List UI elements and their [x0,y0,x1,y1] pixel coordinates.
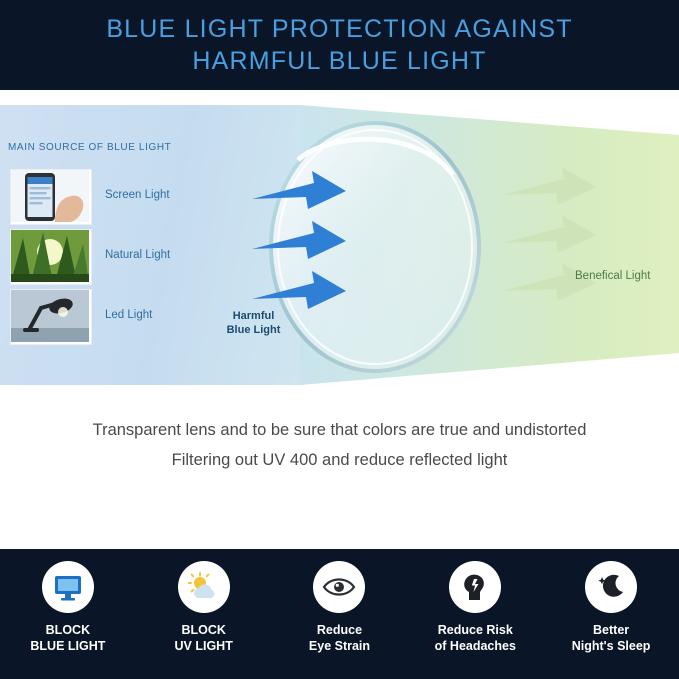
harmful-label-line2: Blue Light [227,324,281,336]
source-label-screen-light: Screen Light [105,189,170,201]
smartphone-icon [10,169,92,225]
feature-caption-uv-light: BLOCK UV LIGHT [175,622,233,654]
feature-caption-headaches: Reduce Risk of Headaches [435,622,516,654]
sun-cloud-icon [178,561,230,613]
monitor-icon [42,561,94,613]
feature-line2: of Headaches [435,639,516,653]
eye-icon [313,561,365,613]
sunlight-trees-icon [10,229,92,285]
moon-stars-icon [585,561,637,613]
feature-block-uv-light: BLOCK UV LIGHT [141,561,266,654]
harmful-blue-light-label: Harmful Blue Light [206,309,301,337]
benefical-light-label: Benefical Light [575,270,675,282]
feature-footer: BLOCK BLUE LIGHT [0,549,679,679]
feature-caption-blue-light: BLOCK BLUE LIGHT [30,622,105,654]
feature-line1: BLOCK [46,623,90,637]
header-title-line2: HARMFUL BLUE LIGHT [192,45,486,77]
lens-diagram: MAIN SOURCE OF BLUE LIGHT [0,90,679,400]
feature-caption-night-sleep: Better Night's Sleep [572,622,651,654]
feature-line2: BLUE LIGHT [30,639,105,653]
source-label-natural-light: Natural Light [105,249,170,261]
feature-block-blue-light: BLOCK BLUE LIGHT [5,561,130,654]
feature-line2: Eye Strain [309,639,370,653]
head-pain-icon [449,561,501,613]
feature-line1: Reduce Risk [438,623,513,637]
feature-line2: UV LIGHT [175,639,233,653]
feature-block-headaches: Reduce Risk of Headaches [413,561,538,654]
infographic-page: BLUE LIGHT PROTECTION AGAINST HARMFUL BL… [0,0,679,679]
feature-line1: Reduce [317,623,362,637]
header-banner: BLUE LIGHT PROTECTION AGAINST HARMFUL BL… [0,0,679,90]
feature-block-night-sleep: Better Night's Sleep [549,561,674,654]
feature-block-eye-strain: Reduce Eye Strain [277,561,402,654]
feature-caption-eye-strain: Reduce Eye Strain [309,622,370,654]
feature-line1: Better [593,623,629,637]
feature-row: BLOCK BLUE LIGHT [0,561,679,654]
benefical-light-arrows [500,165,620,305]
description-block: Transparent lens and to be sure that col… [0,415,679,525]
desk-lamp-icon [10,289,92,345]
source-label-led-light: Led Light [105,309,152,321]
source-title: MAIN SOURCE OF BLUE LIGHT [8,142,171,153]
feature-line2: Night's Sleep [572,639,651,653]
harmful-label-line1: Harmful [233,310,275,322]
harmful-blue-arrows [250,165,380,310]
header-title-line1: BLUE LIGHT PROTECTION AGAINST [106,13,572,45]
feature-line1: BLOCK [181,623,225,637]
description-line1: Transparent lens and to be sure that col… [93,415,587,445]
description-line2: Filtering out UV 400 and reduce reflecte… [172,445,508,475]
